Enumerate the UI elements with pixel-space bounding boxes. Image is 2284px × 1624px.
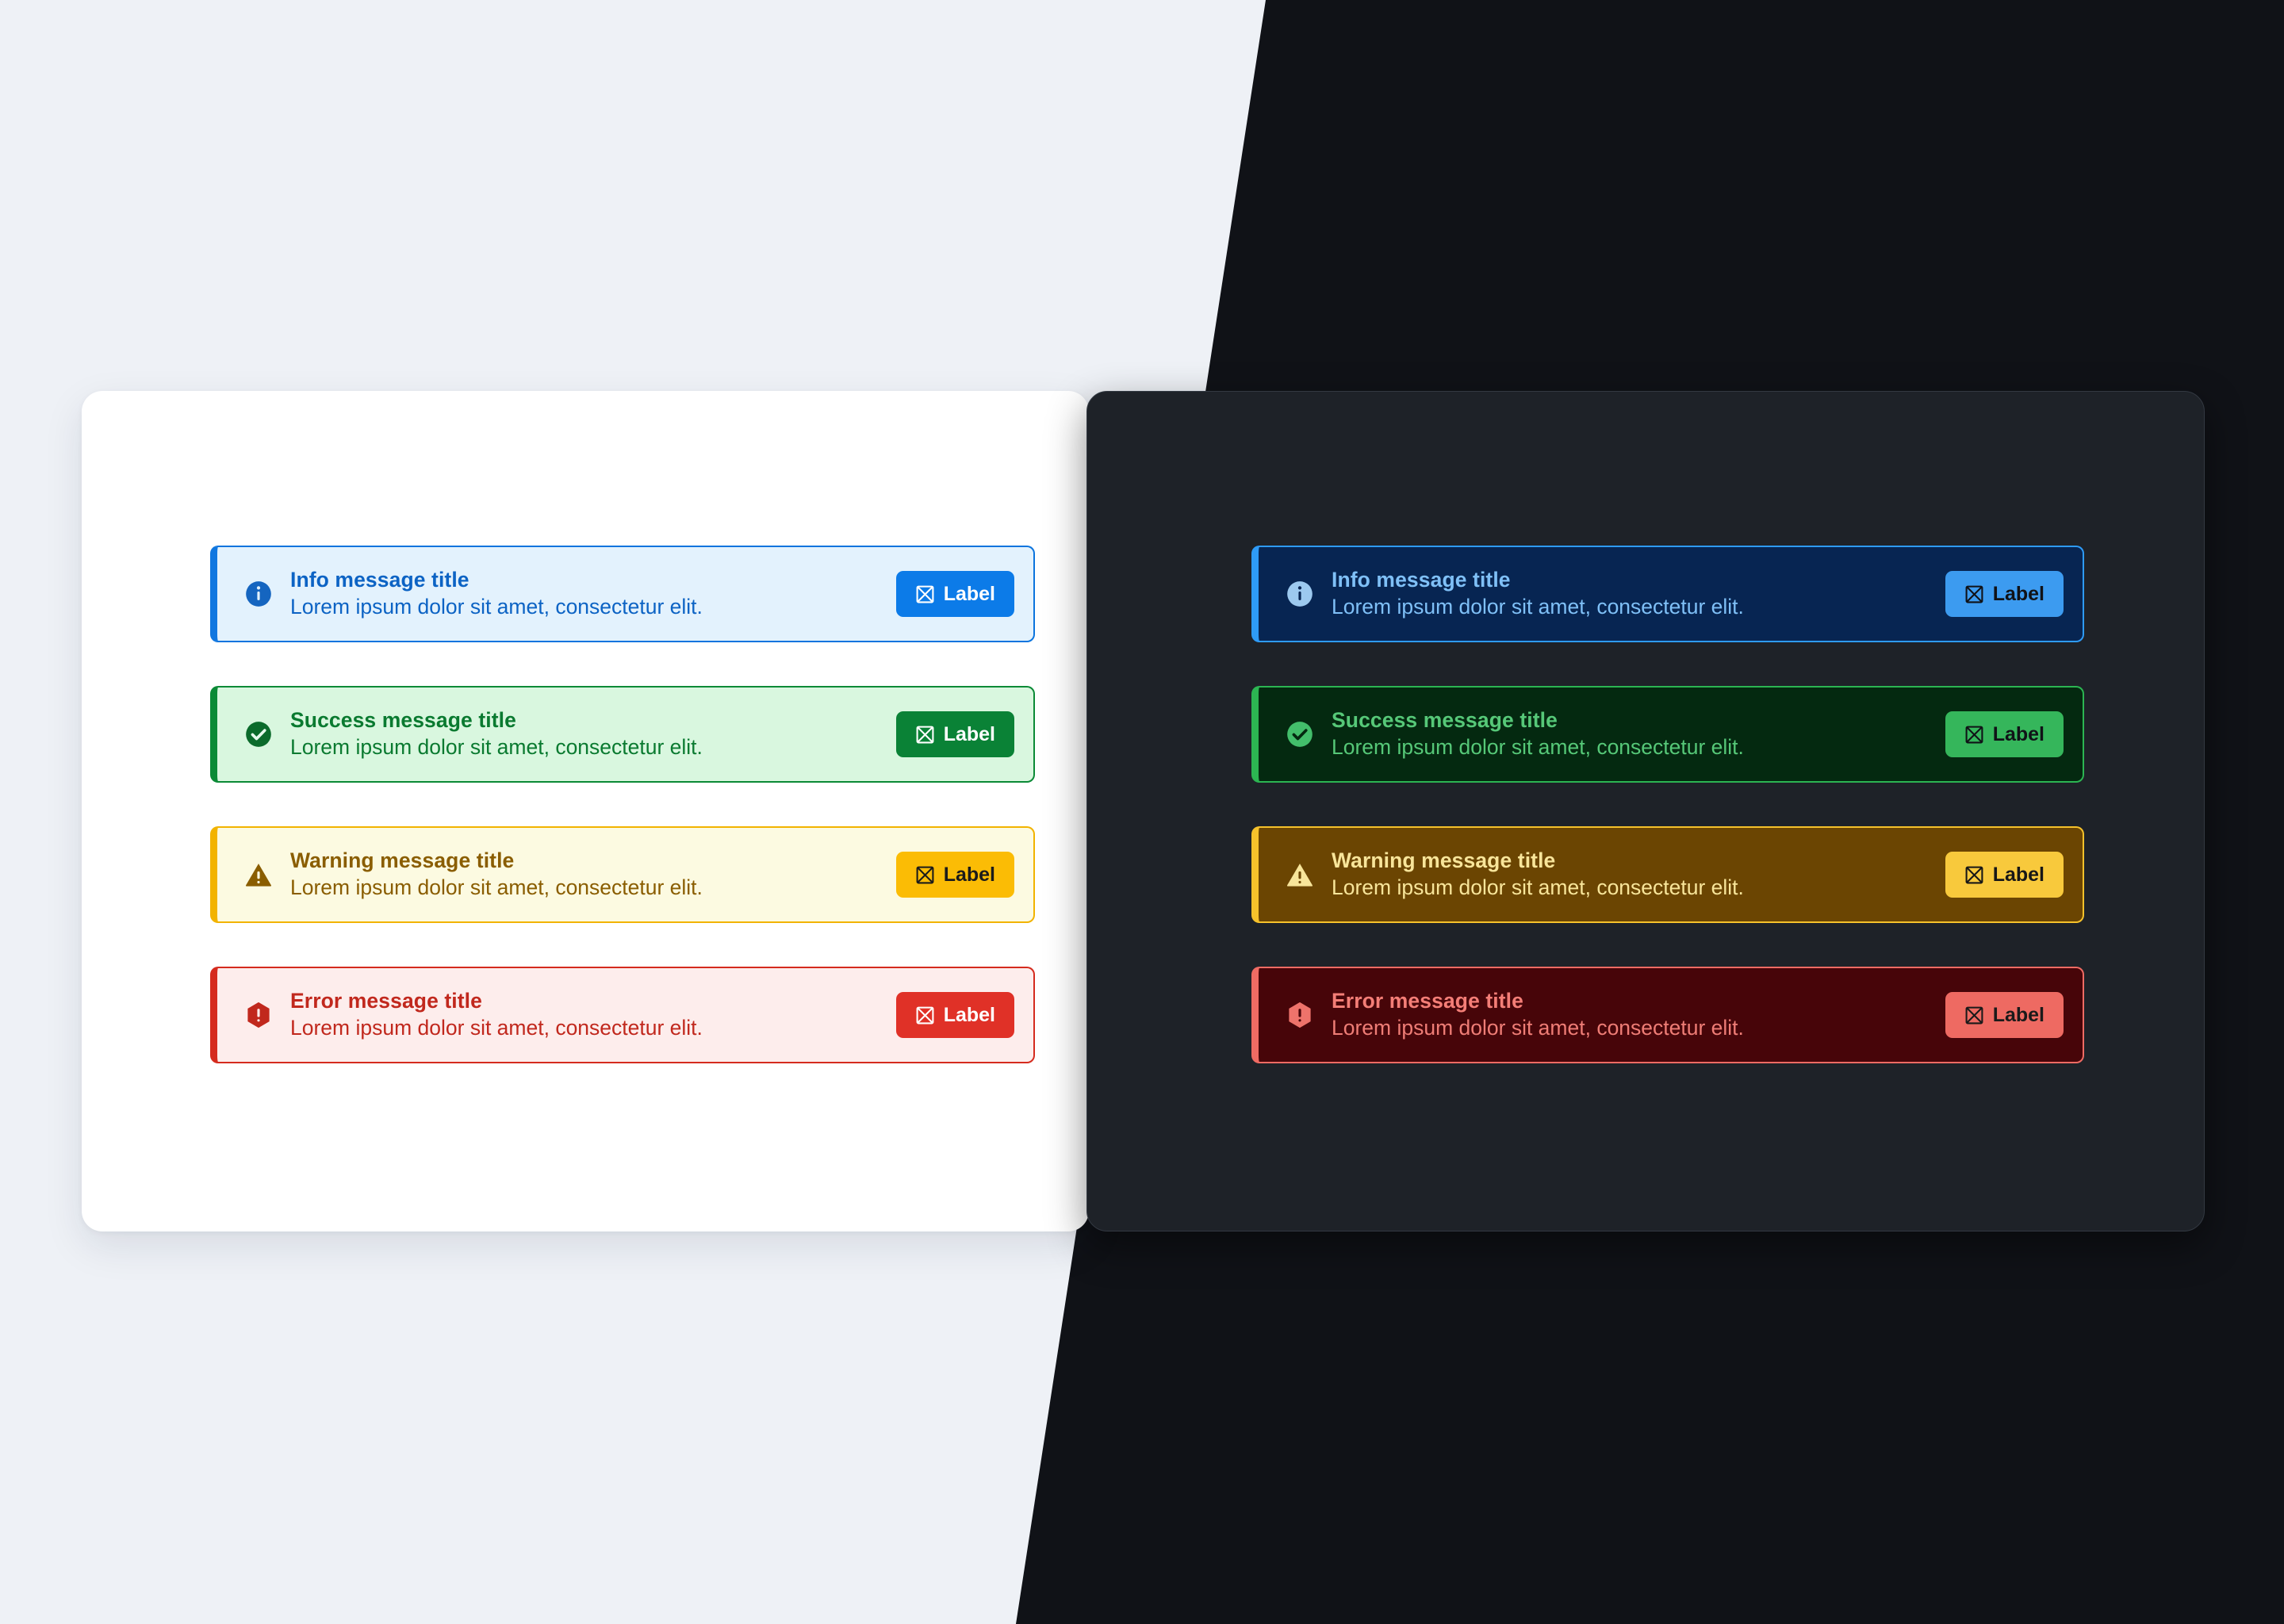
alert-action-button[interactable]: Label xyxy=(896,852,1014,898)
alert-error-light[interactable]: Error message title Lorem ipsum dolor si… xyxy=(210,967,1035,1063)
alert-action-label: Label xyxy=(1993,723,2044,746)
alert-description: Lorem ipsum dolor sit amet, consectetur … xyxy=(1332,875,1923,901)
alert-action-button[interactable]: Label xyxy=(896,711,1014,757)
alert-description: Lorem ipsum dolor sit amet, consectetur … xyxy=(290,595,874,620)
warning-triangle-icon xyxy=(243,859,274,891)
placeholder-image-icon xyxy=(915,865,935,885)
alert-body: Warning message title Lorem ipsum dolor … xyxy=(1332,848,1923,901)
alert-action-label: Label xyxy=(1993,864,2044,887)
alert-action-button[interactable]: Label xyxy=(896,992,1014,1038)
alert-success-light[interactable]: Success message title Lorem ipsum dolor … xyxy=(210,686,1035,783)
alert-action-button[interactable]: Label xyxy=(1945,571,2064,617)
placeholder-image-icon xyxy=(1964,584,1984,604)
alert-body: Error message title Lorem ipsum dolor si… xyxy=(290,989,874,1041)
placeholder-image-icon xyxy=(1964,1005,1984,1025)
alert-body: Info message title Lorem ipsum dolor sit… xyxy=(290,568,874,620)
alert-warning-light[interactable]: Warning message title Lorem ipsum dolor … xyxy=(210,826,1035,923)
check-circle-icon xyxy=(243,718,274,750)
alert-title: Warning message title xyxy=(290,848,874,873)
alert-info-dark[interactable]: Info message title Lorem ipsum dolor sit… xyxy=(1251,546,2084,642)
alert-success-dark[interactable]: Success message title Lorem ipsum dolor … xyxy=(1251,686,2084,783)
alert-title: Info message title xyxy=(290,568,874,592)
dark-alert-stack: Info message title Lorem ipsum dolor sit… xyxy=(1251,546,2084,1063)
alert-body: Success message title Lorem ipsum dolor … xyxy=(1332,708,1923,760)
alert-title: Error message title xyxy=(1332,989,1923,1013)
placeholder-image-icon xyxy=(1964,865,1984,885)
warning-triangle-icon xyxy=(1284,859,1316,891)
error-hexagon-icon xyxy=(243,999,274,1031)
alert-action-label: Label xyxy=(944,583,995,606)
split-theme-stage: Info message title Lorem ipsum dolor sit… xyxy=(0,0,2284,1624)
info-circle-icon xyxy=(1284,578,1316,610)
alert-description: Lorem ipsum dolor sit amet, consectetur … xyxy=(1332,1016,1923,1041)
alert-error-dark[interactable]: Error message title Lorem ipsum dolor si… xyxy=(1251,967,2084,1063)
alert-action-button[interactable]: Label xyxy=(1945,992,2064,1038)
error-hexagon-icon xyxy=(1284,999,1316,1031)
alert-action-button[interactable]: Label xyxy=(896,571,1014,617)
alert-body: Success message title Lorem ipsum dolor … xyxy=(290,708,874,760)
placeholder-image-icon xyxy=(915,1005,935,1025)
alert-action-button[interactable]: Label xyxy=(1945,852,2064,898)
alert-title: Info message title xyxy=(1332,568,1923,592)
alert-body: Error message title Lorem ipsum dolor si… xyxy=(1332,989,1923,1041)
alert-info-light[interactable]: Info message title Lorem ipsum dolor sit… xyxy=(210,546,1035,642)
alert-action-label: Label xyxy=(1993,1004,2044,1027)
alert-title: Error message title xyxy=(290,989,874,1013)
alert-action-label: Label xyxy=(944,864,995,887)
alert-action-label: Label xyxy=(944,723,995,746)
alert-title: Warning message title xyxy=(1332,848,1923,873)
check-circle-icon xyxy=(1284,718,1316,750)
placeholder-image-icon xyxy=(915,584,935,604)
placeholder-image-icon xyxy=(1964,725,1984,745)
alert-action-button[interactable]: Label xyxy=(1945,711,2064,757)
alert-description: Lorem ipsum dolor sit amet, consectetur … xyxy=(290,875,874,901)
alert-warning-dark[interactable]: Warning message title Lorem ipsum dolor … xyxy=(1251,826,2084,923)
alert-body: Warning message title Lorem ipsum dolor … xyxy=(290,848,874,901)
info-circle-icon xyxy=(243,578,274,610)
light-alert-stack: Info message title Lorem ipsum dolor sit… xyxy=(210,546,1035,1063)
alert-action-label: Label xyxy=(1993,583,2044,606)
alert-body: Info message title Lorem ipsum dolor sit… xyxy=(1332,568,1923,620)
alert-description: Lorem ipsum dolor sit amet, consectetur … xyxy=(1332,595,1923,620)
alert-title: Success message title xyxy=(1332,708,1923,733)
alert-description: Lorem ipsum dolor sit amet, consectetur … xyxy=(1332,735,1923,760)
alert-description: Lorem ipsum dolor sit amet, consectetur … xyxy=(290,1016,874,1041)
alert-description: Lorem ipsum dolor sit amet, consectetur … xyxy=(290,735,874,760)
alert-title: Success message title xyxy=(290,708,874,733)
alert-action-label: Label xyxy=(944,1004,995,1027)
placeholder-image-icon xyxy=(915,725,935,745)
